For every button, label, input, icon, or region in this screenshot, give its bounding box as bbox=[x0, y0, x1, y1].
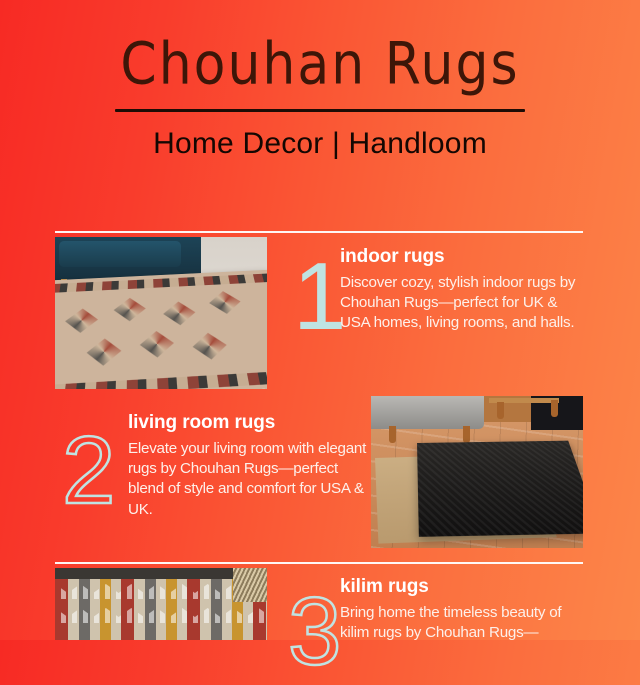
section-number-1: 1 bbox=[293, 253, 346, 341]
section-1-heading: indoor rugs bbox=[340, 246, 578, 268]
section-3-text: kilim rugs Bring home the timeless beaut… bbox=[340, 576, 580, 643]
title-underline bbox=[115, 109, 525, 112]
section-3-heading: kilim rugs bbox=[340, 576, 580, 598]
section-2-body: Elevate your living room with elegant ru… bbox=[128, 439, 368, 520]
poster-header: Chouhan Rugs Home Decor | Handloom bbox=[0, 0, 640, 161]
section-2-heading: living room rugs bbox=[128, 412, 368, 434]
section-1-text: indoor rugs Discover cozy, stylish indoo… bbox=[340, 246, 578, 334]
kilim-rug-photo bbox=[55, 568, 267, 640]
page-subtitle: Home Decor | Handloom bbox=[0, 127, 640, 161]
section-1-body: Discover cozy, stylish indoor rugs by Ch… bbox=[340, 273, 578, 334]
indoor-rug-photo bbox=[55, 237, 267, 389]
section-number-3: 3 bbox=[288, 588, 341, 676]
section-number-2: 2 bbox=[62, 427, 115, 515]
page-title: Chouhan Rugs bbox=[0, 34, 640, 95]
living-room-rug-photo bbox=[371, 396, 583, 548]
section-divider-2 bbox=[55, 562, 583, 564]
section-3-body: Bring home the timeless beauty of kilim … bbox=[340, 603, 580, 643]
section-2-text: living room rugs Elevate your living roo… bbox=[128, 412, 368, 520]
section-divider-1 bbox=[55, 231, 583, 233]
